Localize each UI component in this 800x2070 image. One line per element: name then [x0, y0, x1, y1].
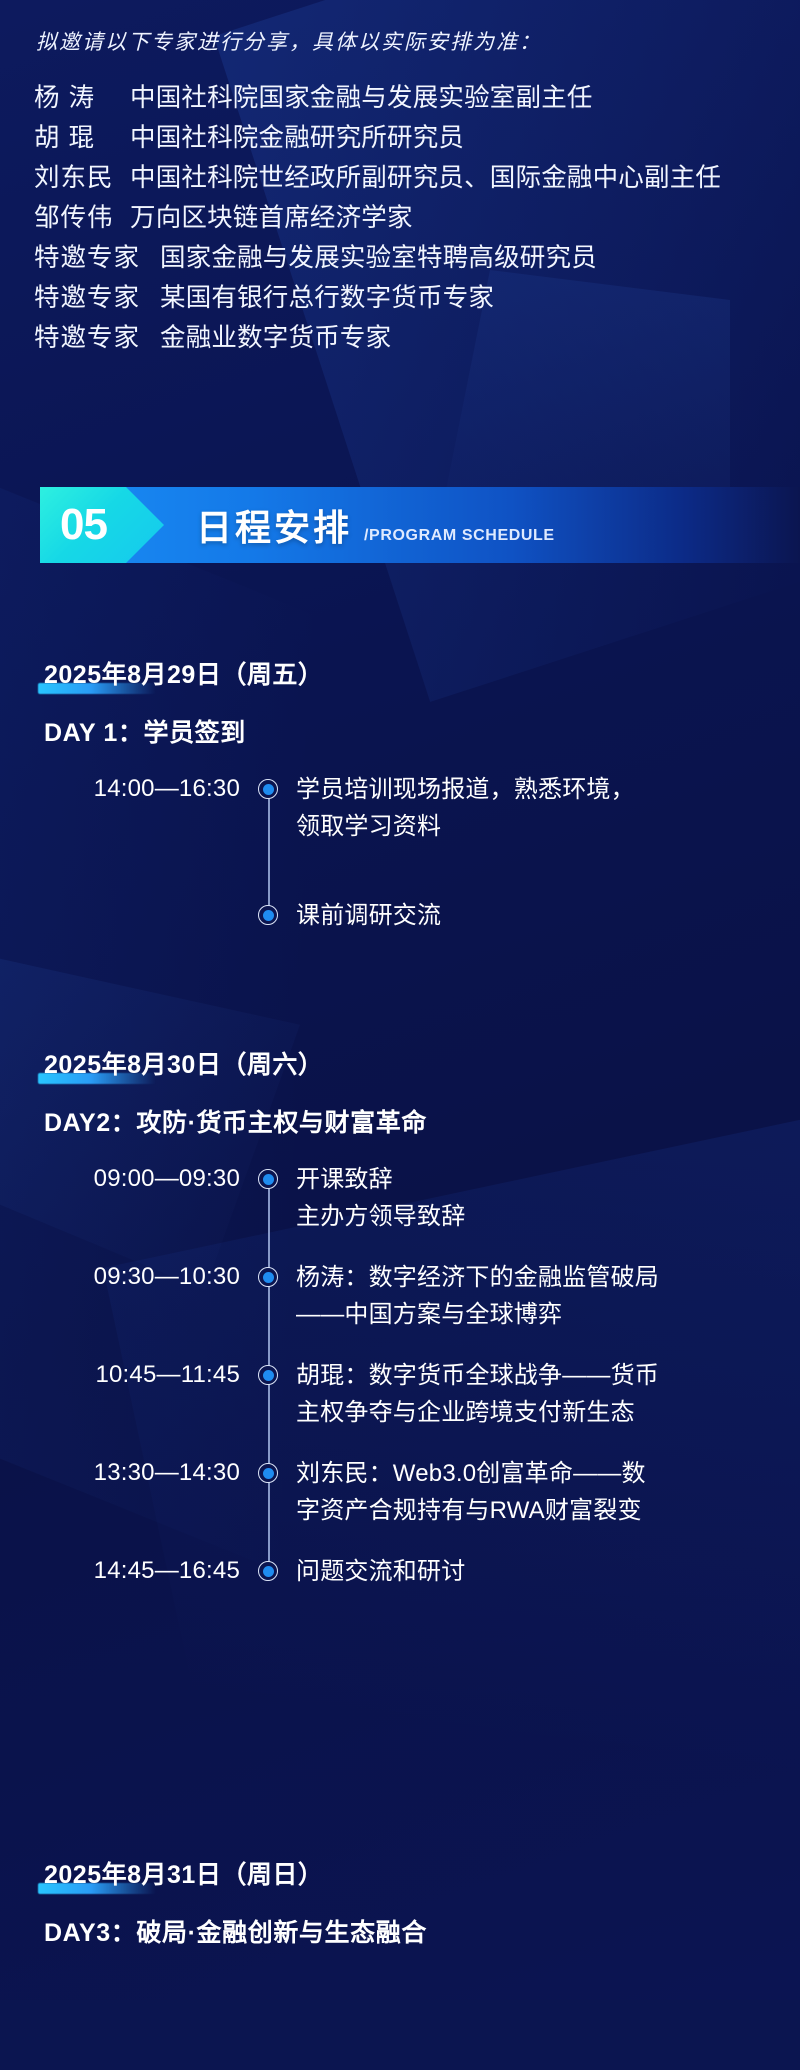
expert-row: 邹传伟万向区块链首席经济学家	[34, 198, 774, 238]
timeline-item-text: 刘东民：Web3.0创富革命——数字资产合规持有与RWA财富裂变	[296, 1455, 800, 1529]
expert-title: 中国社科院国家金融与发展实验室副主任	[130, 78, 593, 118]
poster-page: 拟邀请以下专家进行分享，具体以实际安排为准： 杨 涛中国社科院国家金融与发展实验…	[0, 0, 800, 2000]
expert-list: 杨 涛中国社科院国家金融与发展实验室副主任胡 琨中国社科院金融研究所研究员刘东民…	[34, 78, 774, 358]
expert-name: 胡 琨	[34, 118, 130, 158]
section-title-group: 日程安排 /PROGRAM SCHEDULE	[164, 499, 555, 551]
section-title-en: /PROGRAM SCHEDULE	[364, 527, 555, 545]
expert-name: 特邀专家	[34, 278, 160, 318]
timeline-item-text-line1: 课前调研交流	[296, 897, 790, 934]
day-date: 2025年8月29日（周五）	[44, 655, 323, 693]
timeline-item-text-line1: 杨涛：数字经济下的金融监管破局	[296, 1259, 790, 1296]
section-number: 05	[40, 503, 107, 547]
timeline-item-text-line2: 主权争夺与企业跨境支付新生态	[296, 1394, 790, 1431]
day-block: 2025年8月29日（周五）DAY 1：学员签到14:00—16:30学员培训现…	[0, 655, 800, 934]
timeline-item-text: 杨涛：数字经济下的金融监管破局——中国方案与全球博弈	[296, 1259, 800, 1333]
expert-name: 杨 涛	[34, 78, 130, 118]
timeline-item-text-line1: 胡琨：数字货币全球战争——货币	[296, 1357, 790, 1394]
day-block: 2025年8月30日（周六）DAY2：攻防·货币主权与财富革命09:00—09:…	[0, 1045, 800, 1590]
timeline-dot-icon	[258, 1365, 278, 1385]
timeline-item-time: 14:45—16:45	[0, 1553, 240, 1589]
timeline-dot-cell	[240, 1161, 296, 1189]
timeline-dot-icon	[258, 905, 278, 925]
timeline-dot-cell	[240, 897, 296, 925]
expert-title: 某国有银行总行数字货币专家	[160, 278, 494, 318]
timeline-item-time: 10:45—11:45	[0, 1357, 240, 1393]
section-number-chevron: 05	[40, 487, 164, 563]
timeline: 09:00—09:30开课致辞主办方领导致辞09:30—10:30杨涛：数字经济…	[0, 1161, 800, 1590]
expert-title: 国家金融与发展实验室特聘高级研究员	[160, 238, 597, 278]
day-title: DAY2：攻防·货币主权与财富革命	[44, 1103, 800, 1139]
timeline-item: 09:00—09:30开课致辞主办方领导致辞	[0, 1161, 800, 1235]
timeline-dot-icon	[258, 1169, 278, 1189]
timeline-item: 13:30—14:30刘东民：Web3.0创富革命——数字资产合规持有与RWA财…	[0, 1455, 800, 1529]
timeline-item-text: 学员培训现场报道，熟悉环境，领取学习资料	[296, 771, 800, 845]
timeline-item-text: 胡琨：数字货币全球战争——货币主权争夺与企业跨境支付新生态	[296, 1357, 800, 1431]
timeline-dot-cell	[240, 771, 296, 799]
day-title: DAY 1：学员签到	[44, 713, 800, 749]
timeline-item-time: 09:30—10:30	[0, 1259, 240, 1295]
timeline-item-text-line2: 领取学习资料	[296, 808, 790, 845]
expert-row: 特邀专家某国有银行总行数字货币专家	[34, 278, 774, 318]
expert-name: 邹传伟	[34, 198, 130, 238]
expert-name: 刘东民	[34, 158, 130, 198]
timeline-item: 09:30—10:30杨涛：数字经济下的金融监管破局——中国方案与全球博弈	[0, 1259, 800, 1333]
timeline-dot-icon	[258, 1561, 278, 1581]
timeline-dot-cell	[240, 1259, 296, 1287]
timeline-item-time: 09:00—09:30	[0, 1161, 240, 1197]
timeline-item-text: 课前调研交流	[296, 897, 800, 934]
timeline-item: 14:45—16:45问题交流和研讨	[0, 1553, 800, 1590]
expert-title: 中国社科院世经政所副研究员、国际金融中心副主任	[130, 158, 721, 198]
timeline-dot-icon	[258, 1463, 278, 1483]
timeline-dot-cell	[240, 1553, 296, 1581]
day-title: DAY3：破局·金融创新与生态融合	[44, 1913, 800, 1949]
timeline-item-text-line1: 问题交流和研讨	[296, 1553, 790, 1590]
expert-row: 特邀专家国家金融与发展实验室特聘高级研究员	[34, 238, 774, 278]
invite-note: 拟邀请以下专家进行分享，具体以实际安排为准：	[36, 26, 542, 56]
section-title-cn: 日程安排	[196, 499, 352, 551]
timeline-item-text-line2: 字资产合规持有与RWA财富裂变	[296, 1492, 790, 1529]
timeline-item: 10:45—11:45胡琨：数字货币全球战争——货币主权争夺与企业跨境支付新生态	[0, 1357, 800, 1431]
expert-title: 金融业数字货币专家	[160, 318, 391, 358]
timeline-item: 14:00—16:30学员培训现场报道，熟悉环境，领取学习资料	[0, 771, 800, 845]
timeline-item-text-line2: 主办方领导致辞	[296, 1198, 790, 1235]
day-block: 2025年8月31日（周日）DAY3：破局·金融创新与生态融合	[0, 1855, 800, 1949]
expert-row: 杨 涛中国社科院国家金融与发展实验室副主任	[34, 78, 774, 118]
timeline-item-text-line2: ——中国方案与全球博弈	[296, 1296, 790, 1333]
timeline-item: 课前调研交流	[0, 897, 800, 934]
expert-title: 万向区块链首席经济学家	[130, 198, 413, 238]
timeline-item-text-line1: 刘东民：Web3.0创富革命——数	[296, 1455, 790, 1492]
day-date: 2025年8月30日（周六）	[44, 1045, 323, 1083]
expert-row: 特邀专家金融业数字货币专家	[34, 318, 774, 358]
expert-name: 特邀专家	[34, 318, 160, 358]
expert-title: 中国社科院金融研究所研究员	[130, 118, 464, 158]
expert-name: 特邀专家	[34, 238, 160, 278]
timeline-dot-icon	[258, 1267, 278, 1287]
section-banner-program-schedule: 05 日程安排 /PROGRAM SCHEDULE	[40, 487, 800, 563]
timeline-dot-icon	[258, 779, 278, 799]
timeline-item-text: 问题交流和研讨	[296, 1553, 800, 1590]
timeline-dot-cell	[240, 1455, 296, 1483]
timeline-item-text: 开课致辞主办方领导致辞	[296, 1161, 800, 1235]
timeline-dot-cell	[240, 1357, 296, 1385]
timeline-item-time: 13:30—14:30	[0, 1455, 240, 1491]
expert-row: 刘东民中国社科院世经政所副研究员、国际金融中心副主任	[34, 158, 774, 198]
timeline-item-text-line1: 开课致辞	[296, 1161, 790, 1198]
timeline-item-text-line1: 学员培训现场报道，熟悉环境，	[296, 771, 790, 808]
expert-row: 胡 琨中国社科院金融研究所研究员	[34, 118, 774, 158]
timeline: 14:00—16:30学员培训现场报道，熟悉环境，领取学习资料课前调研交流	[0, 771, 800, 934]
timeline-item-time: 14:00—16:30	[0, 771, 240, 807]
day-date: 2025年8月31日（周日）	[44, 1855, 323, 1893]
